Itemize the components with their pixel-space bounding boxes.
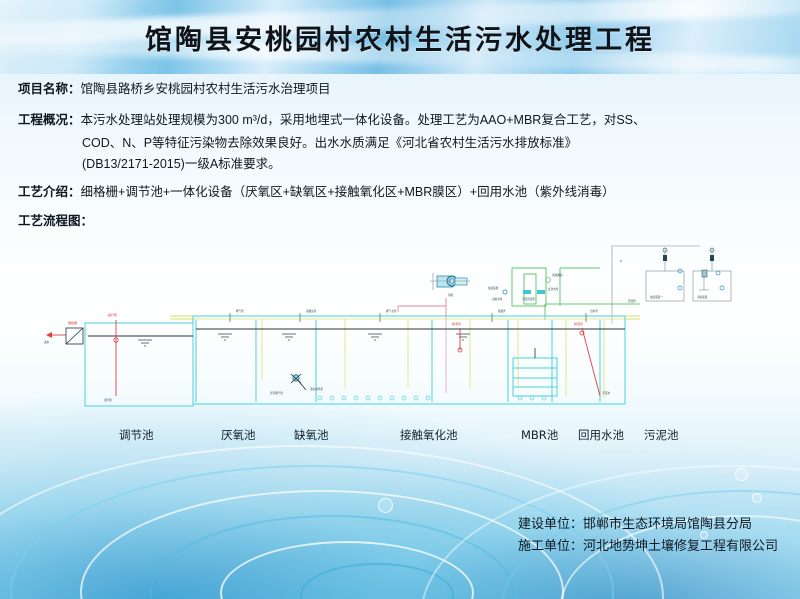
svg-text:JY: JY xyxy=(619,259,623,263)
bubble-icon xyxy=(378,498,393,513)
process-flow-diagram: .tk{fill:none;stroke:#49d2de;stroke-widt… xyxy=(0,228,800,458)
svg-text:细格栅: 细格栅 xyxy=(68,320,77,325)
svg-text:加药装置: 加药装置 xyxy=(488,286,499,290)
poster-board: 馆陶县安桃园村农村生活污水处理工程 项目名称： 馆陶县路桥乡安桃园村农村生活污水… xyxy=(0,0,800,599)
svg-text:自吸水泵: 自吸水泵 xyxy=(492,297,503,301)
pool-label-yanyangchi: 厌氧池 xyxy=(221,427,256,443)
svg-text:接触氧化: 接触氧化 xyxy=(306,309,317,313)
pool-label-queyangchi: 缺氧池 xyxy=(294,427,329,443)
overview-line-3: (DB13/2171-2015)一级A标准要求。 xyxy=(0,154,800,175)
equipment-box-2: 消毒装置 xyxy=(693,248,731,301)
svg-text:排泥管: 排泥管 xyxy=(574,321,583,326)
pool-label-mbr: MBR池 xyxy=(521,427,558,443)
pool-label-row: 调节池 厌氧池 缺氧池 接触氧化池 MBR池 回用水池 污泥池 xyxy=(0,427,800,447)
footer-block: 建设单位：邯郸市生态环境局馆陶县分局 施工单位：河北地势坤土壤修复工程有限公司 xyxy=(518,514,778,558)
svg-text:穿孔曝气管: 穿孔曝气管 xyxy=(270,391,283,395)
svg-text:出水管: 出水管 xyxy=(590,309,598,313)
process-row: 工艺介绍： 细格栅+调节池+一体化设备（厌氧区+缺氧区+接触氧化区+MBR膜区）… xyxy=(0,183,800,202)
svg-text:提升泵: 提升泵 xyxy=(108,312,117,317)
svg-text:潜水搅拌机: 潜水搅拌机 xyxy=(310,387,323,391)
page-title: 馆陶县安桃园村农村生活污水处理工程 xyxy=(0,18,800,57)
svg-text:反洗水泵: 反洗水泵 xyxy=(548,287,559,291)
pool-label-huiyongshuichi: 回用水池 xyxy=(578,427,624,443)
equipment-box-1: 加药装置一 xyxy=(646,248,684,301)
svg-text:回流管: 回流管 xyxy=(628,299,636,303)
pool-label-jiechuyanghuachi: 接触氧化池 xyxy=(400,427,458,443)
pool-label-tiaojiechi: 调节池 xyxy=(119,427,154,443)
construction-owner-line: 建设单位：邯郸市生态环境局馆陶县分局 xyxy=(518,514,778,536)
overview-row: 工程概况： 本污水处理站处理规模为300 m³/d，采用地埋式一体化设备。处理工… xyxy=(0,111,800,130)
overview-label: 工程概况： xyxy=(18,111,81,130)
dosing-equipment-group: 次氯酸钠 加药装置 反洗水泵 自吸水泵 污泥回流泵 回流管 xyxy=(488,268,636,306)
process-label: 工艺介绍： xyxy=(18,183,81,202)
svg-text:曝气管: 曝气管 xyxy=(236,309,244,313)
tank-outlines xyxy=(85,316,625,406)
pipe-annotations: 曝气管 接触氧化 曝气主管 膜组件 出水管 JY xyxy=(236,259,623,313)
pool-label-wunichi: 污泥池 xyxy=(644,427,679,443)
project-name-value: 馆陶县路桥乡安桃园村农村生活污水治理项目 xyxy=(81,80,331,99)
overview-line-1: 本污水处理站处理规模为300 m³/d，采用地埋式一体化设备。处理工艺为AAO+… xyxy=(81,111,646,130)
info-block: 项目名称： 馆陶县路桥乡安桃园村农村生活污水治理项目 工程概况： 本污水处理站处… xyxy=(0,80,800,234)
svg-text:加药装置一: 加药装置一 xyxy=(650,295,663,299)
pipe-network-top xyxy=(170,246,700,324)
process-value: 细格栅+调节池+一体化设备（厌氧区+缺氧区+接触氧化区+MBR膜区）+回用水池（… xyxy=(81,183,615,202)
svg-text:风机: 风机 xyxy=(448,293,454,297)
inlet-fine-screen: 细格栅 进水 xyxy=(44,320,83,344)
blower-icon: 风机 xyxy=(430,273,470,297)
svg-text:污泥回流泵: 污泥回流泵 xyxy=(522,297,535,301)
bubble-icon xyxy=(735,468,748,481)
project-name-label: 项目名称： xyxy=(18,80,81,99)
svg-text:曝气主管: 曝气主管 xyxy=(386,309,397,313)
svg-text:消毒装置: 消毒装置 xyxy=(697,295,708,299)
svg-text:次氯酸钠: 次氯酸钠 xyxy=(552,273,563,277)
bubble-icon xyxy=(752,493,762,503)
svg-text:潜污泵: 潜污泵 xyxy=(104,398,112,402)
svg-text:进水: 进水 xyxy=(44,340,50,344)
svg-text:排泥管: 排泥管 xyxy=(452,321,461,326)
svg-text:膜组件: 膜组件 xyxy=(498,309,506,313)
contractor-line: 施工单位：河北地势坤土壤修复工程有限公司 xyxy=(518,536,778,558)
svg-text:污泥池: 污泥池 xyxy=(602,391,610,395)
overview-line-2: COD、N、P等特征污染物去除效果良好。出水水质满足《河北省农村生活污水排放标准… xyxy=(0,133,800,154)
project-name-row: 项目名称： 馆陶县路桥乡安桃园村农村生活污水治理项目 xyxy=(0,80,800,99)
